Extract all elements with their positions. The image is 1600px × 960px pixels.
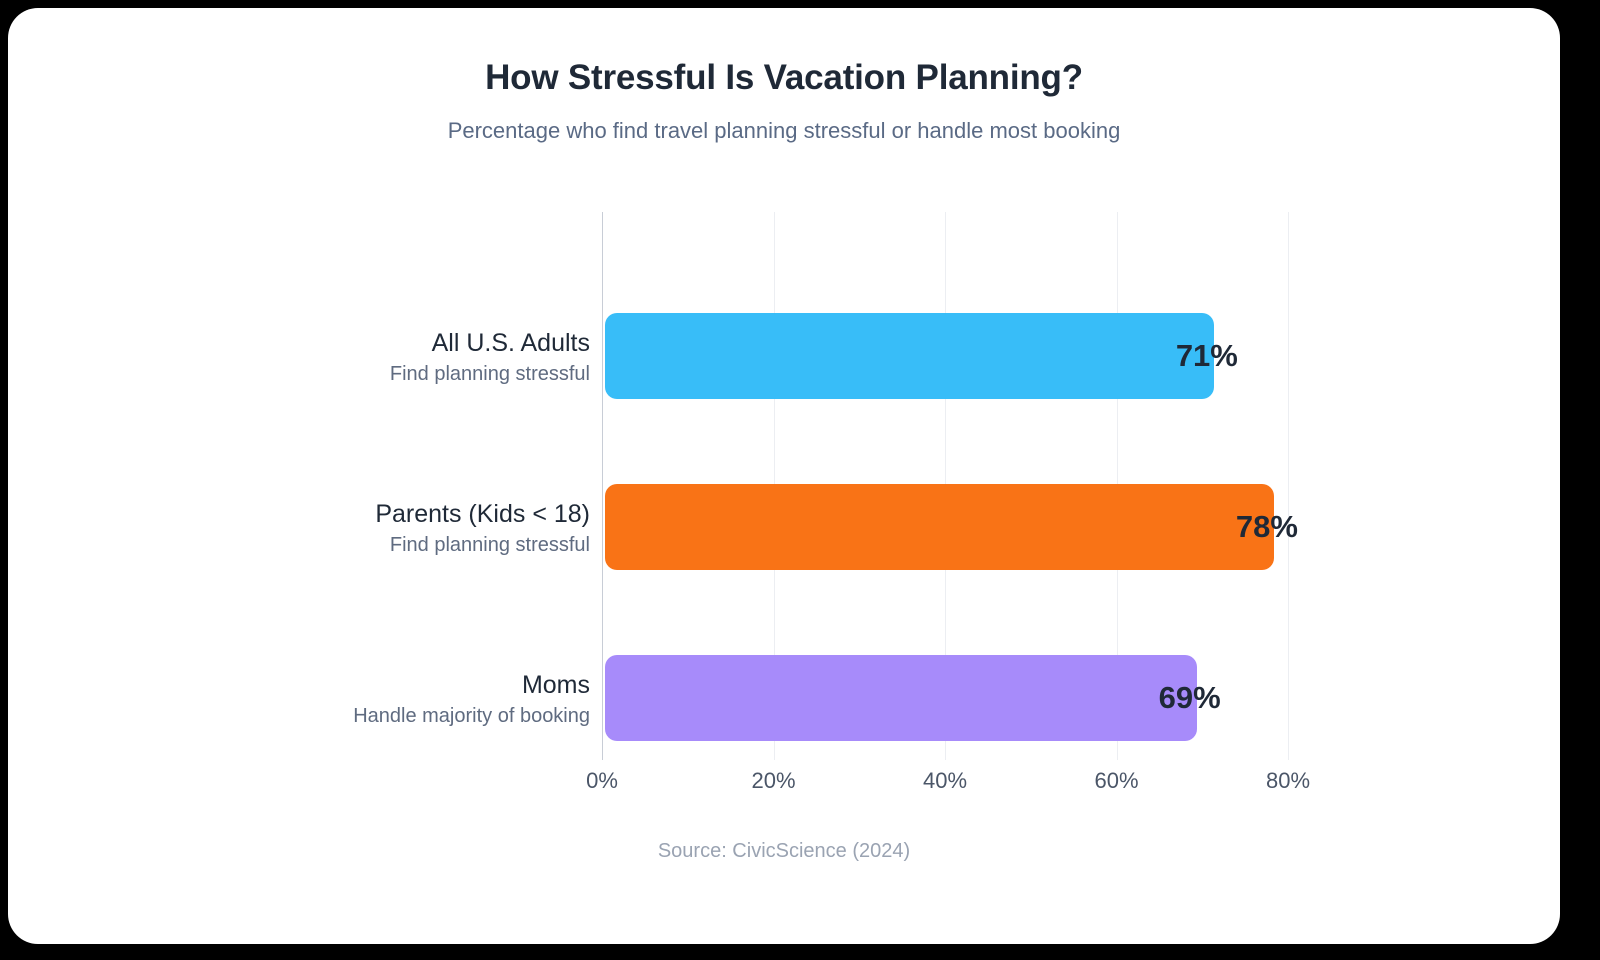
bar-row[interactable]: 69% bbox=[602, 655, 1296, 741]
bar[interactable] bbox=[605, 655, 1197, 741]
category-label: Parents (Kids < 18)Find planning stressf… bbox=[182, 498, 602, 560]
plot-area: 71%78%69% 0%20%40%60%80% All U.S. Adults… bbox=[594, 212, 1288, 760]
category-name: All U.S. Adults bbox=[182, 327, 590, 359]
category-sublabel: Handle majority of booking bbox=[182, 701, 590, 731]
bar-row[interactable]: 71% bbox=[602, 313, 1296, 399]
bar-value-label: 69% bbox=[1159, 680, 1221, 716]
bar[interactable] bbox=[605, 313, 1214, 399]
x-tick-label: 40% bbox=[923, 768, 967, 794]
chart-card: How Stressful Is Vacation Planning? Perc… bbox=[8, 8, 1560, 944]
category-name: Parents (Kids < 18) bbox=[182, 498, 590, 530]
bar-row[interactable]: 78% bbox=[602, 484, 1296, 570]
x-tick-label: 80% bbox=[1266, 768, 1310, 794]
category-sublabel: Find planning stressful bbox=[182, 359, 590, 389]
x-tick-label: 60% bbox=[1094, 768, 1138, 794]
x-tick-label: 0% bbox=[586, 768, 618, 794]
bar-value-label: 78% bbox=[1236, 509, 1298, 545]
category-sublabel: Find planning stressful bbox=[182, 530, 590, 560]
chart-subtitle: Percentage who find travel planning stre… bbox=[8, 118, 1560, 144]
chart-title: How Stressful Is Vacation Planning? bbox=[8, 58, 1560, 98]
bar-value-label: 71% bbox=[1176, 338, 1238, 374]
chart-source-note: Source: CivicScience (2024) bbox=[8, 840, 1560, 863]
category-label: MomsHandle majority of booking bbox=[182, 669, 602, 731]
category-label: All U.S. AdultsFind planning stressful bbox=[182, 327, 602, 389]
x-tick-label: 20% bbox=[751, 768, 795, 794]
bar[interactable] bbox=[605, 484, 1274, 570]
category-name: Moms bbox=[182, 669, 590, 701]
